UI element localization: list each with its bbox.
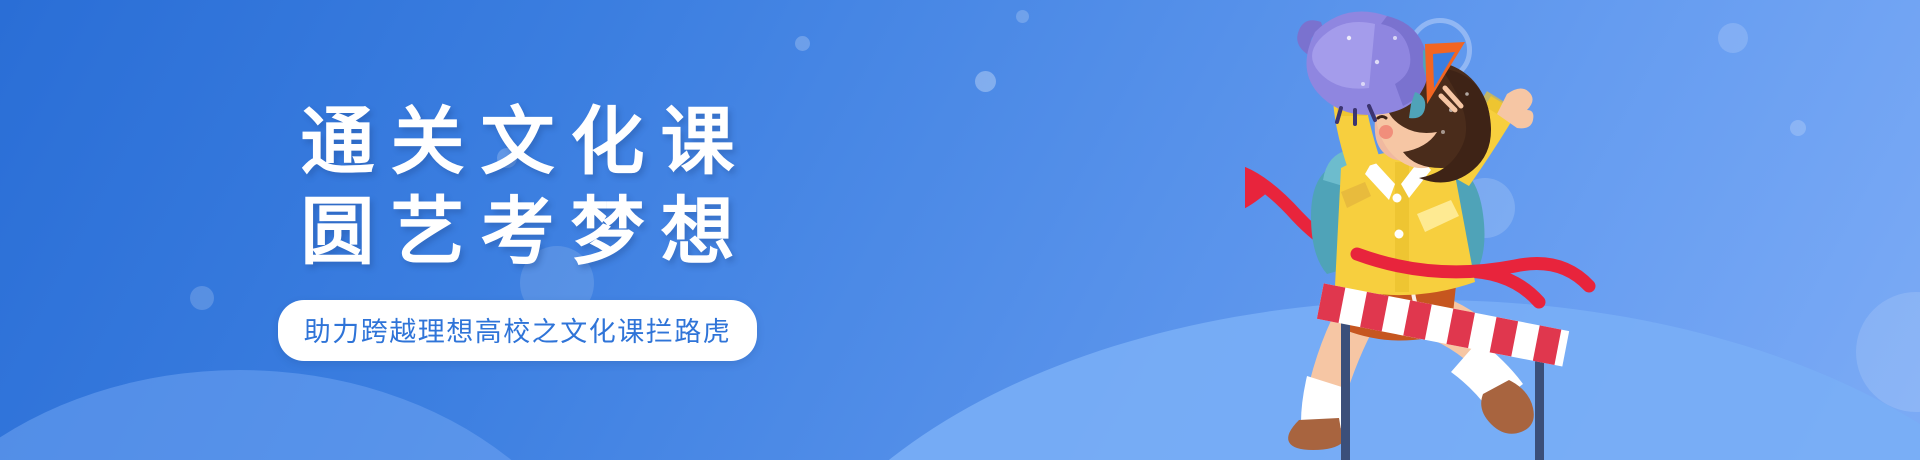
banner-copy: 通关文化课 圆艺考梦想 助力跨越理想高校之文化课拦路虎 <box>0 0 1035 460</box>
headline: 通关文化课 圆艺考梦想 <box>285 99 751 275</box>
hurdle-icon <box>1317 283 1569 460</box>
headline-line-2: 圆艺考梦想 <box>285 189 751 275</box>
headline-line-1: 通关文化课 <box>285 99 751 185</box>
subtitle-pill: 助力跨越理想高校之文化课拦路虎 <box>278 300 758 361</box>
decor-bubble <box>1790 120 1806 136</box>
purple-backpack-icon <box>1297 12 1439 124</box>
decor-bubble <box>1718 23 1748 53</box>
illustration-student-jumping-hurdle <box>1245 0 1645 460</box>
promo-banner: 通关文化课 圆艺考梦想 助力跨越理想高校之文化课拦路虎 <box>0 0 1920 460</box>
